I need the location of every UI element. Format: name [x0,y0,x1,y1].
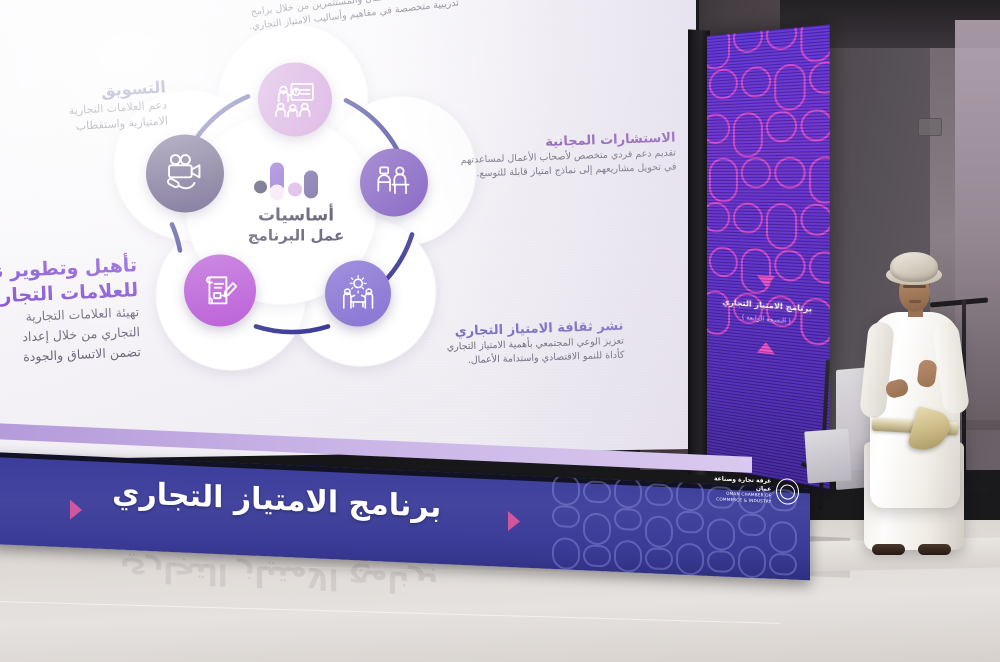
desk-consultation-icon [374,163,413,202]
banner-pill-shape [583,512,611,545]
video-camera-mic-icon [162,151,207,196]
speaker-left-sandal [872,544,905,555]
speaker-brows [903,285,926,288]
node-consulting[interactable] [360,148,428,216]
banner-pill-shape [645,515,673,548]
wall-plate [918,118,942,136]
banner-pill-shape [769,553,797,576]
speaker-turban [890,252,938,282]
banner-pill-shape [614,476,642,509]
banner-pill-shape [769,521,797,554]
laptop-on-stand [804,429,852,484]
led-scanlines [707,24,830,489]
center-title-line2: عمل البرنامج [230,226,362,245]
banner-pill-shape [738,545,766,578]
banner-pill-shape [676,542,704,575]
banner-pill-shape [614,508,642,531]
banner-pill-shape [552,473,580,506]
block-culture: نشر ثقافة الامتياز التجاري تعزيز الوعي ا… [401,319,624,371]
speaker-right-sandal [918,544,951,555]
banner-pill-shape [614,540,642,573]
banner-pill-shape [645,483,673,506]
banner-pill-shape [707,550,735,573]
banner-pill-shape [583,480,611,503]
node-marketing[interactable] [146,134,224,212]
banner-pill-shape [583,544,611,567]
banner-arrow-left-icon [70,499,82,520]
banner-title: برنامج الامتياز التجاري [112,475,441,525]
node-qualify[interactable] [184,254,256,326]
led-side-panel: برنامج الامتياز التجاري ( النسخة الرابعة… [707,24,830,489]
node-training[interactable] [258,62,332,136]
document-pen-icon [199,270,241,312]
occi-seal-icon [776,478,799,505]
occi-logo: غرفة تجارة وصناعة عمان OMAN CHAMBER OF C… [707,460,799,520]
speaker-figure [846,252,976,562]
banner-pill-shape [552,505,580,528]
banner-pill-shape [676,510,704,533]
banner-pill-shape [707,518,735,551]
center-title-line1: أساسيات [230,206,362,226]
screenshot-root: أساسيات عمل البرنامج التدريب بناء قدرات … [0,0,1000,662]
projection-screen: أساسيات عمل البرنامج التدريب بناء قدرات … [0,0,696,460]
block-consulting: الاستشارات المجانية تقديم دعم فردي متخصص… [445,130,676,182]
speaker-mouth [909,300,921,303]
program-pillars-ring: أساسيات عمل البرنامج [150,64,440,354]
banner-arrow-right-icon [508,511,520,532]
block-qualify: تأهيل وتطوير نماذ للعلامات التجارية تهيئ… [0,253,141,373]
program-center-lockup: أساسيات عمل البرنامج [230,160,362,244]
banner-pill-shape [676,478,704,511]
team-gear-icon [339,274,377,312]
presentation-training-icon [274,78,317,121]
banner-pill-shape [552,537,580,570]
banner-pill-shape [645,547,673,570]
node-culture[interactable] [325,260,391,326]
program-logo-icon [230,160,362,204]
